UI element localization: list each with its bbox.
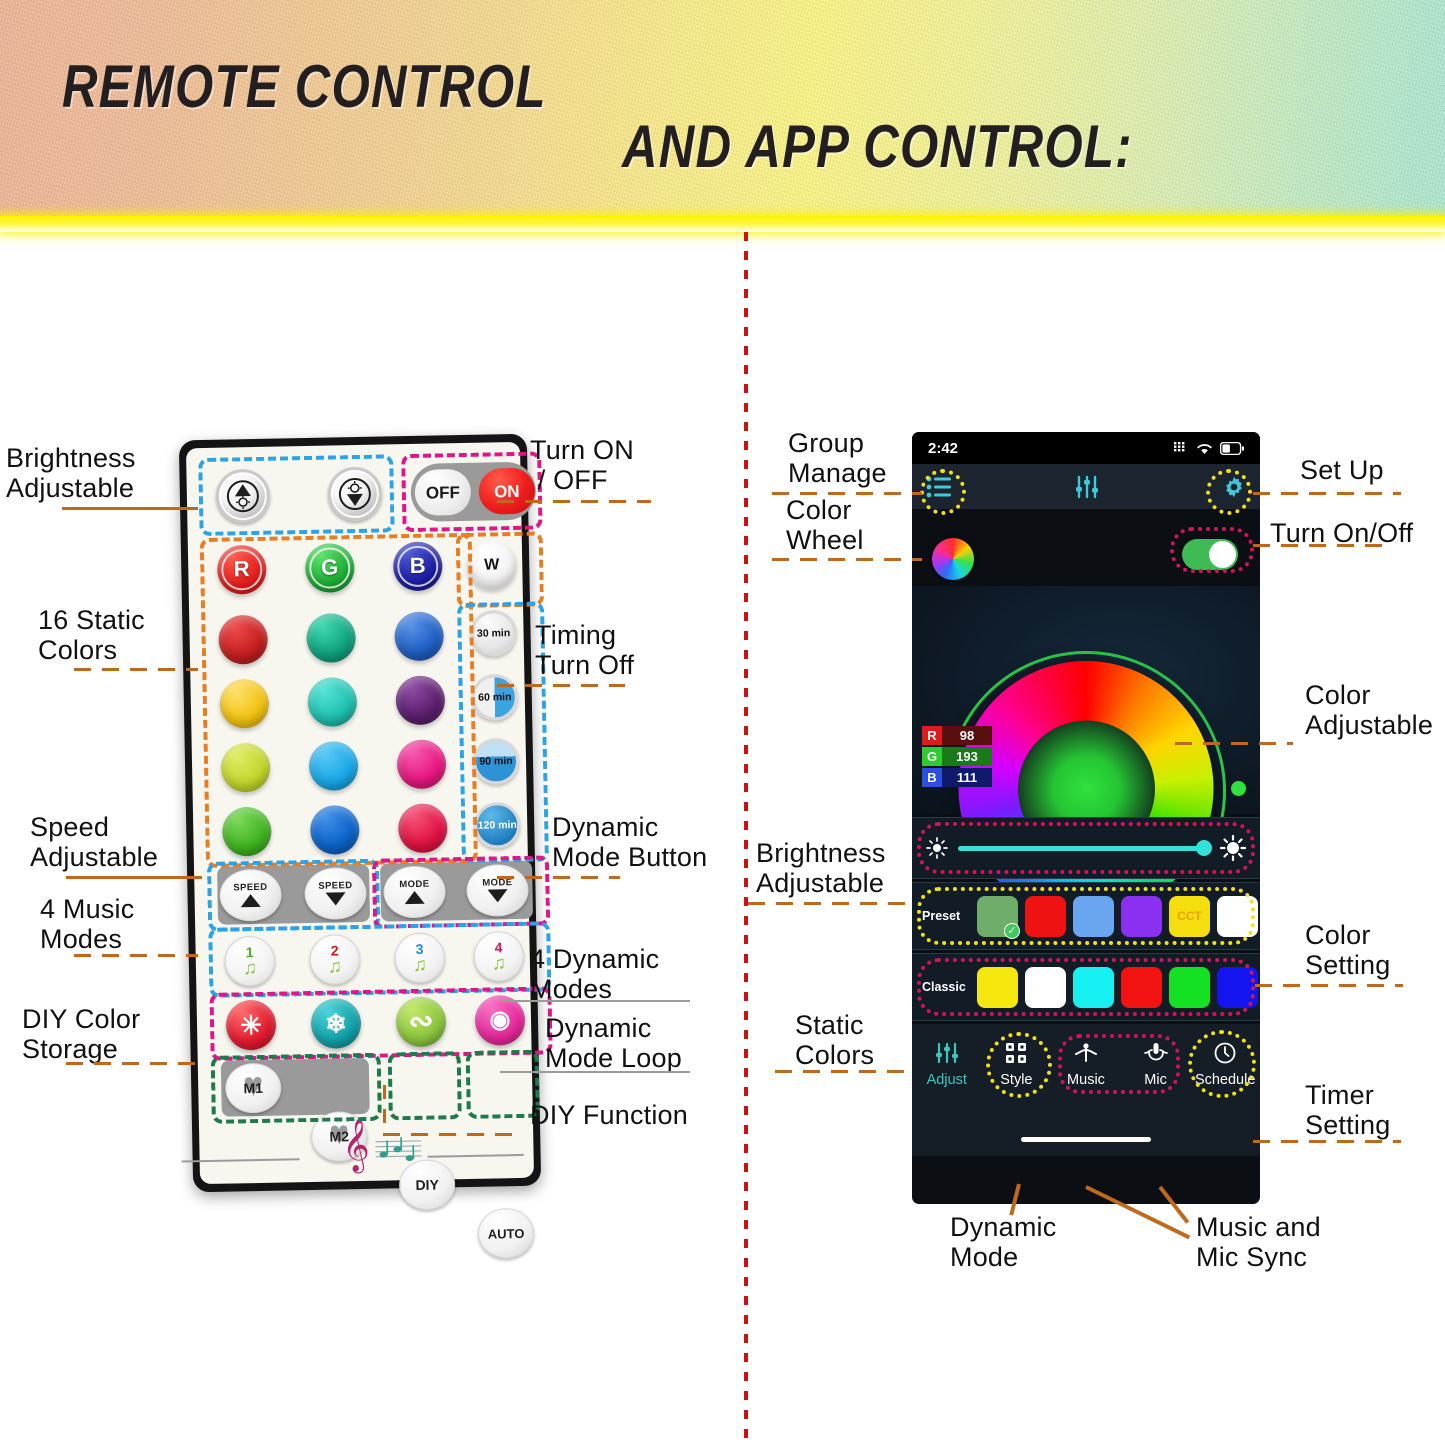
label-diy-function: DIY Function — [530, 1100, 688, 1130]
grid-icon — [1004, 1040, 1028, 1066]
battery-icon — [1220, 442, 1244, 455]
color-button-w[interactable]: W — [467, 540, 517, 590]
toggle-knob — [1209, 541, 1236, 568]
rgb-key-r: R — [922, 726, 942, 745]
leader-static-colors — [74, 668, 198, 671]
brightness-arc-knob[interactable] — [1231, 781, 1246, 796]
power-off-button[interactable]: OFF — [414, 469, 471, 516]
banner-title-line2: AND APP CONTROL: — [622, 112, 1133, 181]
gear-icon[interactable] — [1222, 475, 1246, 499]
group-list-icon[interactable] — [926, 476, 952, 498]
preset-colors-row: Preset ✓ CCT — [912, 882, 1260, 950]
speed-down-label: SPEED — [318, 881, 352, 891]
sliders-icon — [935, 1040, 959, 1066]
label-group-manage: Group Manage — [788, 428, 887, 488]
static-color-button[interactable] — [218, 615, 268, 665]
preset-swatch[interactable] — [1217, 896, 1258, 937]
label-set-up: Set Up — [1300, 455, 1384, 485]
brightness-down-icon — [338, 477, 373, 512]
power-toggle[interactable] — [1182, 539, 1238, 570]
brightness-up-icon — [226, 479, 261, 514]
triangle-up-icon — [241, 894, 261, 907]
remote-control-image: OFF ON R G B W 30 min 60 min 90 min — [186, 437, 534, 1197]
color-button-r[interactable]: R — [217, 545, 267, 595]
brightness-down-button[interactable] — [327, 467, 382, 522]
rgb-row-g: G 193 — [922, 747, 992, 766]
auto-button[interactable]: AUTO — [478, 1208, 535, 1259]
fade-wave-icon: ∾ — [408, 1007, 434, 1037]
label-timing-turn-off: Timing Turn Off — [535, 620, 634, 680]
label-dynamic-mode-app: Dynamic Mode — [950, 1212, 1056, 1272]
leader-color-setting — [1255, 984, 1403, 987]
rgb-key-b: B — [922, 768, 942, 787]
classic-swatch[interactable] — [1121, 967, 1162, 1008]
dynamic-mode-smooth-button[interactable]: ◉ — [475, 995, 526, 1046]
nav-label-music: Music — [1067, 1072, 1105, 1088]
static-color-button[interactable] — [394, 611, 444, 661]
color-wheel-icon[interactable] — [932, 538, 974, 580]
rgb-row-b: B 111 — [922, 768, 992, 787]
leader-diy-function-vertical — [383, 1085, 386, 1135]
timer-button-90min[interactable]: 90 min — [473, 738, 520, 785]
preset-swatch-cct[interactable]: CCT — [1169, 896, 1210, 937]
flash-burst-icon: ✳ — [240, 1012, 262, 1038]
cellular-signal-icon — [1174, 442, 1189, 454]
mode-down-label: MODE — [482, 878, 512, 888]
label-color-wheel: Color Wheel — [786, 495, 864, 555]
brightness-low-icon — [926, 837, 948, 859]
preset-swatch[interactable] — [1025, 896, 1066, 937]
static-color-button[interactable] — [310, 805, 360, 855]
music-mode-number: 4 — [495, 940, 503, 954]
color-button-b[interactable]: B — [393, 541, 443, 591]
leader-color-adjustable — [1175, 742, 1293, 745]
label-brightness-adjustable: Brightness Adjustable — [6, 443, 136, 503]
static-color-button[interactable] — [306, 613, 356, 663]
leader-turn-on-off — [497, 500, 651, 503]
nav-item-adjust[interactable]: Adjust — [912, 1040, 982, 1088]
timer-button-120min[interactable]: 120 min — [474, 802, 521, 849]
rgb-row-r: R 98 — [922, 726, 992, 745]
rgb-value-b: 111 — [942, 768, 992, 787]
leader-dynamic-modes — [500, 1000, 690, 1002]
remote-body: OFF ON R G B W 30 min 60 min 90 min — [179, 434, 541, 1193]
highlight-auto-button — [466, 1050, 540, 1119]
music-wave-icon — [1073, 1040, 1099, 1066]
classic-swatch[interactable] — [1169, 967, 1210, 1008]
classic-swatch[interactable] — [1217, 967, 1258, 1008]
leader-music-modes — [74, 954, 198, 957]
label-speed-adjustable: Speed Adjustable — [30, 812, 158, 872]
static-color-button[interactable] — [219, 679, 269, 729]
static-color-button[interactable] — [309, 741, 359, 791]
nav-item-style[interactable]: Style — [982, 1040, 1052, 1088]
classic-label: Classic — [922, 980, 970, 994]
leader-timer-setting — [1253, 1140, 1401, 1143]
label-diy-color-storage: DIY Color Storage — [22, 1004, 140, 1064]
status-time: 2:42 — [928, 440, 958, 457]
nav-label-adjust: Adjust — [927, 1072, 967, 1088]
label-4-dynamic-modes: 4 Dynamic Modes — [530, 944, 659, 1004]
leader-diy-function — [383, 1133, 523, 1136]
selected-check-icon: ✓ — [1004, 923, 1020, 939]
nav-item-mic[interactable]: Mic — [1121, 1040, 1191, 1088]
static-color-button[interactable] — [395, 675, 445, 725]
nav-item-schedule[interactable]: Schedule — [1190, 1040, 1260, 1088]
preset-swatch[interactable] — [1073, 896, 1114, 937]
music-mode-button-1[interactable]: 1 ♫ — [224, 936, 275, 987]
label-4-music-modes: 4 Music Modes — [40, 894, 134, 954]
leader-static-colors-app — [775, 1070, 915, 1073]
memory-label: M1 — [243, 1081, 263, 1095]
rgb-value-g: 193 — [942, 747, 992, 766]
rgb-readout: R 98 G 193 B 111 — [922, 726, 992, 789]
decorative-line-right — [428, 1154, 524, 1158]
label-turn-on-off: Turn ON / OFF — [530, 435, 634, 495]
static-color-button[interactable] — [222, 807, 272, 857]
microphone-icon — [1143, 1040, 1169, 1066]
app-header-bar — [912, 464, 1260, 509]
music-mode-number: 3 — [416, 941, 424, 955]
timer-button-60min[interactable]: 60 min — [471, 674, 518, 721]
music-mode-button-4[interactable]: 4 ♫ — [473, 931, 524, 982]
static-color-button[interactable] — [397, 739, 447, 789]
wifi-icon — [1196, 442, 1213, 455]
phone-app-screenshot: 2:42 — [912, 432, 1260, 1204]
brightness-up-button[interactable] — [215, 469, 270, 524]
highlight-diy-button — [388, 1051, 462, 1120]
power-on-button[interactable]: ON — [478, 468, 535, 515]
leader-brightness — [62, 507, 198, 510]
music-note-icon: ♫ — [328, 957, 343, 976]
leader-timing — [497, 684, 625, 687]
speed-up-label: SPEED — [233, 883, 267, 893]
classic-colors-row: Classic — [912, 953, 1260, 1021]
label-timer-setting: Timer Setting — [1305, 1080, 1390, 1140]
label-16-static-colors: 16 Static Colors — [38, 605, 145, 665]
music-mode-number: 1 — [246, 945, 254, 959]
nav-item-music[interactable]: Music — [1051, 1040, 1121, 1088]
nav-label-mic: Mic — [1144, 1072, 1167, 1088]
memory-label: M2 — [329, 1129, 349, 1143]
label-dynamic-mode-loop: Dynamic Mode Loop — [545, 1013, 682, 1073]
label-color-adjustable: Color Adjustable — [1305, 680, 1433, 740]
music-mode-button-3[interactable]: 3 ♫ — [394, 932, 445, 983]
banner-underline — [0, 216, 1445, 232]
strobe-snowflake-icon: ❄ — [325, 1010, 347, 1036]
label-music-mic-sync: Music and Mic Sync — [1196, 1212, 1321, 1272]
leader-brightness-app — [748, 902, 908, 905]
label-static-colors-app: Static Colors — [795, 1010, 874, 1070]
color-button-g[interactable]: G — [305, 543, 355, 593]
rgb-value-r: 98 — [942, 726, 992, 745]
label-brightness-adjustable-app: Brightness Adjustable — [756, 838, 886, 898]
status-bar: 2:42 — [912, 432, 1260, 464]
dynamic-mode-strobe-button[interactable]: ❄ — [311, 998, 362, 1049]
mode-up-label: MODE — [399, 879, 429, 889]
banner-title-line1: REMOTE CONTROL — [62, 52, 547, 121]
classic-swatch[interactable] — [1025, 967, 1066, 1008]
leader-set-up — [1253, 492, 1401, 495]
music-note-icon: ♫ — [492, 954, 507, 973]
triangle-down-icon — [487, 889, 507, 902]
section-divider — [744, 232, 748, 1445]
decorative-line-left — [182, 1158, 300, 1162]
leader-diy-storage — [66, 1062, 200, 1065]
leader-turn-on-off-app — [1253, 544, 1388, 547]
remote-face: OFF ON R G B W 30 min 60 min 90 min — [186, 442, 534, 1184]
nav-label-schedule: Schedule — [1195, 1072, 1255, 1088]
timer-button-30min[interactable]: 30 min — [470, 610, 517, 657]
classic-swatch[interactable] — [977, 967, 1018, 1008]
static-color-button[interactable] — [221, 743, 271, 793]
sliders-icon — [1074, 475, 1100, 499]
leader-dynamic-mode-loop — [500, 1071, 690, 1073]
dynamic-mode-flash-button[interactable]: ✳ — [226, 1000, 277, 1051]
music-mode-button-2[interactable]: 2 ♫ — [309, 934, 360, 985]
triangle-up-icon — [405, 891, 425, 904]
music-staff-icon — [375, 1134, 422, 1175]
preset-label: Preset — [922, 909, 970, 923]
clock-icon — [1213, 1040, 1237, 1066]
label-color-setting: Color Setting — [1305, 920, 1390, 980]
rgb-key-g: G — [922, 747, 942, 766]
preset-swatch[interactable]: ✓ — [977, 896, 1018, 937]
static-color-button[interactable] — [307, 677, 357, 727]
leader-speed — [66, 876, 202, 879]
cct-label: CCT — [1169, 896, 1210, 937]
static-color-button[interactable] — [398, 803, 448, 853]
music-mode-number: 2 — [331, 943, 339, 957]
smooth-spiral-icon: ◉ — [489, 1008, 510, 1032]
brightness-slider[interactable] — [958, 846, 1210, 851]
brightness-high-icon — [1220, 835, 1246, 861]
brightness-slider-row — [912, 817, 1260, 879]
label-dynamic-mode-button: Dynamic Mode Button — [552, 812, 707, 872]
preset-swatch[interactable] — [1121, 896, 1162, 937]
brightness-slider-knob[interactable] — [1196, 840, 1212, 856]
nav-label-style: Style — [1000, 1072, 1032, 1088]
classic-swatch[interactable] — [1073, 967, 1114, 1008]
bottom-navigation-bar: Adjust Style Music Mic Schedule — [912, 1024, 1260, 1156]
music-note-icon: ♫ — [243, 959, 258, 978]
music-note-icon: ♫ — [413, 955, 428, 974]
dynamic-mode-fade-button[interactable]: ∾ — [396, 996, 447, 1047]
triangle-down-icon — [326, 893, 346, 906]
leader-dynamic-mode-button — [497, 876, 620, 879]
leader-color-wheel — [772, 558, 922, 561]
home-indicator — [1021, 1137, 1151, 1142]
